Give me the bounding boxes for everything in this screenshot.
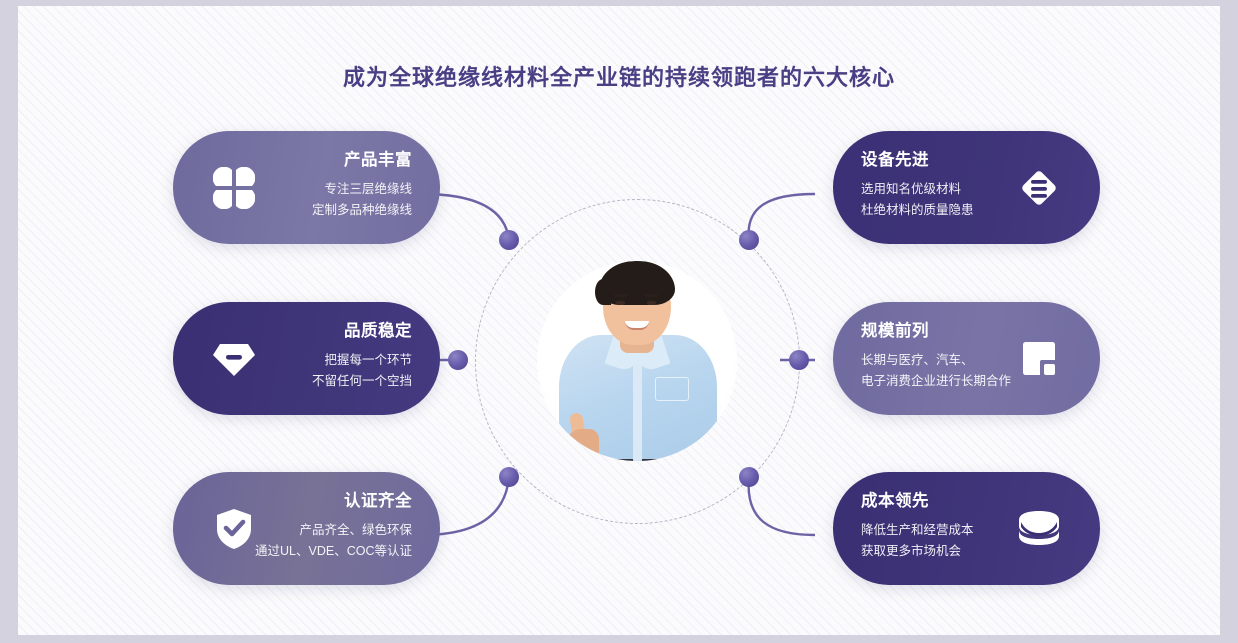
card-line: 把握每一个环节 [312,350,412,371]
card-line: 专注三层绝缘线 [312,179,412,200]
infographic-stage: 成为全球绝缘线材料全产业链的持续领跑者的六大核心 [18,6,1220,635]
card-title: 产品丰富 [312,150,412,170]
card-title: 规模前列 [861,321,1011,341]
card-text: 成本领先 降低生产和经营成本 获取更多市场机会 [861,491,974,562]
card-title: 成本领先 [861,491,974,511]
four-petal-clover-icon [207,161,261,215]
card-line: 杜绝材料的质量隐患 [861,200,974,221]
card-certifications[interactable]: 认证齐全 产品齐全、绿色环保 通过UL、VDE、COC等认证 [173,472,440,585]
card-text: 品质稳定 把握每一个环节 不留任何一个空挡 [312,321,412,392]
card-text: 设备先进 选用知名优级材料 杜绝材料的质量隐患 [861,150,974,221]
shield-check-icon [207,502,261,556]
top-right-node [739,230,759,250]
card-title: 认证齐全 [255,491,412,511]
card-line: 通过UL、VDE、COC等认证 [255,541,412,562]
card-line: 降低生产和经营成本 [861,520,974,541]
gem-minus-icon [207,332,261,386]
middle-right-node [789,350,809,370]
database-stack-icon [1012,502,1066,556]
diamond-bars-icon [1012,161,1066,215]
card-line: 选用知名优级材料 [861,179,974,200]
bottom-right-node [739,467,759,487]
card-advanced-equipment[interactable]: 设备先进 选用知名优级材料 杜绝材料的质量隐患 [833,131,1100,244]
card-product-rich[interactable]: 产品丰富 专注三层绝缘线 定制多品种绝缘线 [173,131,440,244]
card-line: 获取更多市场机会 [861,541,974,562]
card-text: 产品丰富 专注三层绝缘线 定制多品种绝缘线 [312,150,412,221]
card-title: 品质稳定 [312,321,412,341]
card-quality-stable[interactable]: 品质稳定 把握每一个环节 不留任何一个空挡 [173,302,440,415]
card-line: 产品齐全、绿色环保 [255,520,412,541]
page-title: 成为全球绝缘线材料全产业链的持续领跑者的六大核心 [18,60,1220,92]
top-left-node [499,230,519,250]
bottom-left-node [499,467,519,487]
card-title: 设备先进 [861,150,974,170]
card-line: 不留任何一个空挡 [312,371,412,392]
card-scale-leading[interactable]: 规模前列 长期与医疗、汽车、 电子消费企业进行长期合作 [833,302,1100,415]
layout-square-icon [1012,332,1066,386]
card-text: 规模前列 长期与医疗、汽车、 电子消费企业进行长期合作 [861,321,1011,392]
person-illustration [537,261,737,461]
card-line: 电子消费企业进行长期合作 [861,371,1011,392]
center-photo [537,261,737,461]
card-line: 定制多品种绝缘线 [312,200,412,221]
card-cost-leading[interactable]: 成本领先 降低生产和经营成本 获取更多市场机会 [833,472,1100,585]
middle-left-node [448,350,468,370]
card-text: 认证齐全 产品齐全、绿色环保 通过UL、VDE、COC等认证 [255,491,412,562]
card-line: 长期与医疗、汽车、 [861,350,1011,371]
